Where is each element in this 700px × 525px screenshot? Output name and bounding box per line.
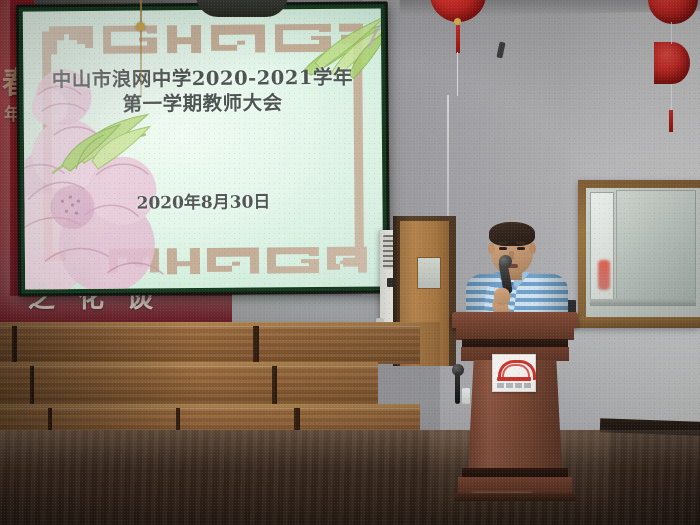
speaker-ear-left bbox=[488, 243, 495, 254]
window-rail bbox=[590, 299, 696, 306]
slide-title-line-1: 中山市浪网中学2020-2021学年 bbox=[23, 64, 381, 92]
lantern-string bbox=[457, 52, 458, 96]
podium-emblem-plaque bbox=[492, 354, 536, 392]
window-sill bbox=[578, 317, 700, 328]
speaker-ear-right bbox=[529, 243, 536, 254]
lantern-string bbox=[671, 22, 672, 44]
hanging-cord bbox=[140, 0, 142, 96]
lantern-ball bbox=[648, 0, 698, 24]
water-bottle bbox=[462, 388, 470, 404]
slide-title: 中山市浪网中学2020-2021学年 第一学期教师大会 bbox=[23, 64, 381, 118]
wooden-lectern bbox=[452, 312, 578, 502]
plaque-baseline bbox=[497, 377, 531, 381]
photograph-scene: 春 年 之 化 谈 bbox=[0, 0, 700, 525]
plaque-text-rows bbox=[497, 383, 531, 389]
gooseneck-microphone-stem bbox=[455, 372, 460, 404]
cord-bead bbox=[136, 22, 145, 31]
door-vision-panel bbox=[417, 257, 441, 289]
slide-title-line-2: 第一学期教师大会 bbox=[24, 90, 382, 118]
projection-screen-frame: 中山市浪网中学2020-2021学年 第一学期教师大会 2020年8月30日 bbox=[16, 1, 391, 296]
slide-date: 2020年8月30日 bbox=[24, 186, 382, 214]
lectern-foot bbox=[454, 493, 576, 501]
projection-screen: 中山市浪网中学2020-2021学年 第一学期教师大会 2020年8月30日 bbox=[23, 8, 383, 289]
lantern-right bbox=[648, 0, 698, 84]
lantern-tassel bbox=[669, 110, 673, 132]
window-frame bbox=[578, 180, 700, 328]
speaker-eye-left bbox=[499, 247, 507, 250]
meander-border-top bbox=[47, 22, 365, 55]
lantern-left bbox=[430, 0, 486, 22]
lantern-string-lower bbox=[671, 84, 672, 112]
window-red-object bbox=[598, 260, 610, 290]
meander-border-bottom bbox=[107, 245, 369, 277]
speaker-hair bbox=[489, 222, 535, 246]
window-pane-right bbox=[616, 190, 696, 302]
lantern-bead bbox=[454, 18, 461, 25]
speaker-eye-right bbox=[517, 247, 525, 250]
meander-border-left bbox=[40, 31, 68, 261]
lantern-tassel bbox=[456, 25, 460, 53]
window-inner bbox=[586, 188, 700, 318]
lectern-desktop bbox=[452, 312, 578, 328]
lantern-ball-lower bbox=[654, 42, 690, 84]
ceiling-projector bbox=[196, 0, 288, 17]
